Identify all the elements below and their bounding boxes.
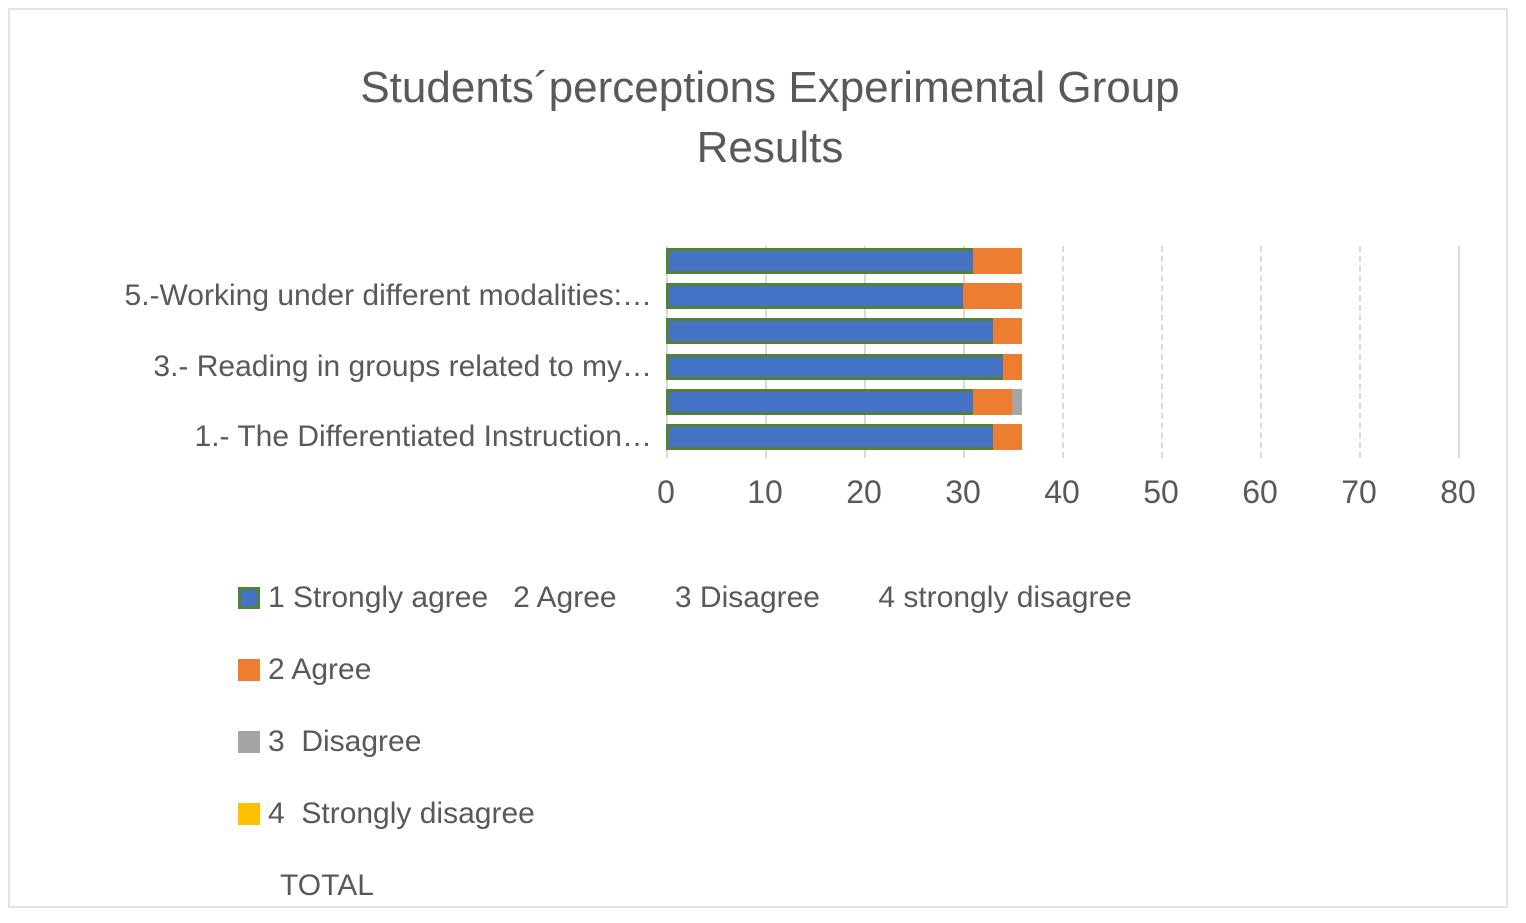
bar-segment-series-2[interactable]: [993, 424, 1023, 450]
x-axis-tick-50: 50: [1143, 472, 1179, 512]
chart-title-line-1: Students´perceptions Experimental Group: [260, 58, 1280, 118]
bar-segment-series-1[interactable]: [666, 354, 1003, 380]
bar-segment-series-1[interactable]: [666, 389, 973, 415]
chart-title-line-2: Results: [260, 118, 1280, 178]
plot-area: [666, 246, 1458, 458]
legend-item[interactable]: 3 Disagree: [238, 706, 1438, 778]
gridline-50: [1161, 246, 1163, 458]
legend-item[interactable]: TOTAL: [238, 850, 1438, 922]
y-axis-label: 3.- Reading in groups related to my…: [153, 350, 652, 384]
legend-item[interactable]: 4 Strongly disagree: [238, 778, 1438, 850]
bar-row[interactable]: [666, 354, 1022, 380]
gridline-80: [1458, 246, 1460, 458]
legend-item[interactable]: 2 Agree: [238, 634, 1438, 706]
bar-row[interactable]: [666, 389, 1022, 415]
bar-segment-series-2[interactable]: [973, 389, 1013, 415]
bar-segment-series-2[interactable]: [963, 283, 1022, 309]
legend-swatch-icon: [238, 875, 260, 897]
x-axis-tick-0: 0: [657, 472, 675, 512]
chart-legend: 1 Strongly agree 2 Agree 3 Disagree 4 st…: [238, 562, 1438, 922]
legend-swatch-icon: [238, 731, 260, 753]
bar-segment-series-3[interactable]: [1012, 389, 1022, 415]
bar-segment-series-2[interactable]: [973, 248, 1023, 274]
legend-swatch-icon: [238, 587, 260, 609]
x-axis-tick-40: 40: [1044, 472, 1080, 512]
legend-label: 2 Agree: [268, 653, 371, 687]
legend-swatch-icon: [238, 803, 260, 825]
x-axis-tick-20: 20: [846, 472, 882, 512]
bar-row[interactable]: [666, 248, 1022, 274]
bar-segment-series-2[interactable]: [1003, 354, 1023, 380]
x-axis-tick-60: 60: [1242, 472, 1278, 512]
bar-row[interactable]: [666, 318, 1022, 344]
chart-frame: Students´perceptions Experimental Group …: [8, 8, 1508, 908]
bar-segment-series-1[interactable]: [666, 283, 963, 309]
y-axis-labels: 5.-Working under different modalities:…3…: [30, 246, 660, 458]
gridline-40: [1062, 246, 1064, 458]
chart-title: Students´perceptions Experimental Group …: [260, 58, 1280, 178]
y-axis-label: 5.-Working under different modalities:…: [125, 279, 652, 313]
bar-row[interactable]: [666, 283, 1022, 309]
gridline-70: [1359, 246, 1361, 458]
x-axis-tick-30: 30: [945, 472, 981, 512]
x-axis-labels: 01020304050607080: [10, 472, 1510, 522]
bar-segment-series-2[interactable]: [993, 318, 1023, 344]
bar-segment-series-1[interactable]: [666, 318, 993, 344]
bar-segment-series-1[interactable]: [666, 248, 973, 274]
gridline-60: [1260, 246, 1262, 458]
legend-label: 1 Strongly agree 2 Agree 3 Disagree 4 st…: [268, 581, 1132, 615]
legend-label: 4 Strongly disagree: [268, 797, 535, 831]
x-axis-tick-10: 10: [747, 472, 783, 512]
y-axis-label: 1.- The Differentiated Instruction…: [195, 420, 652, 454]
x-axis-tick-70: 70: [1341, 472, 1377, 512]
legend-item[interactable]: 1 Strongly agree 2 Agree 3 Disagree 4 st…: [238, 562, 1438, 634]
bar-row[interactable]: [666, 424, 1022, 450]
legend-label: 3 Disagree: [268, 725, 421, 759]
x-axis-tick-80: 80: [1440, 472, 1476, 512]
bar-segment-series-1[interactable]: [666, 424, 993, 450]
legend-label: TOTAL: [268, 869, 374, 903]
legend-swatch-icon: [238, 659, 260, 681]
